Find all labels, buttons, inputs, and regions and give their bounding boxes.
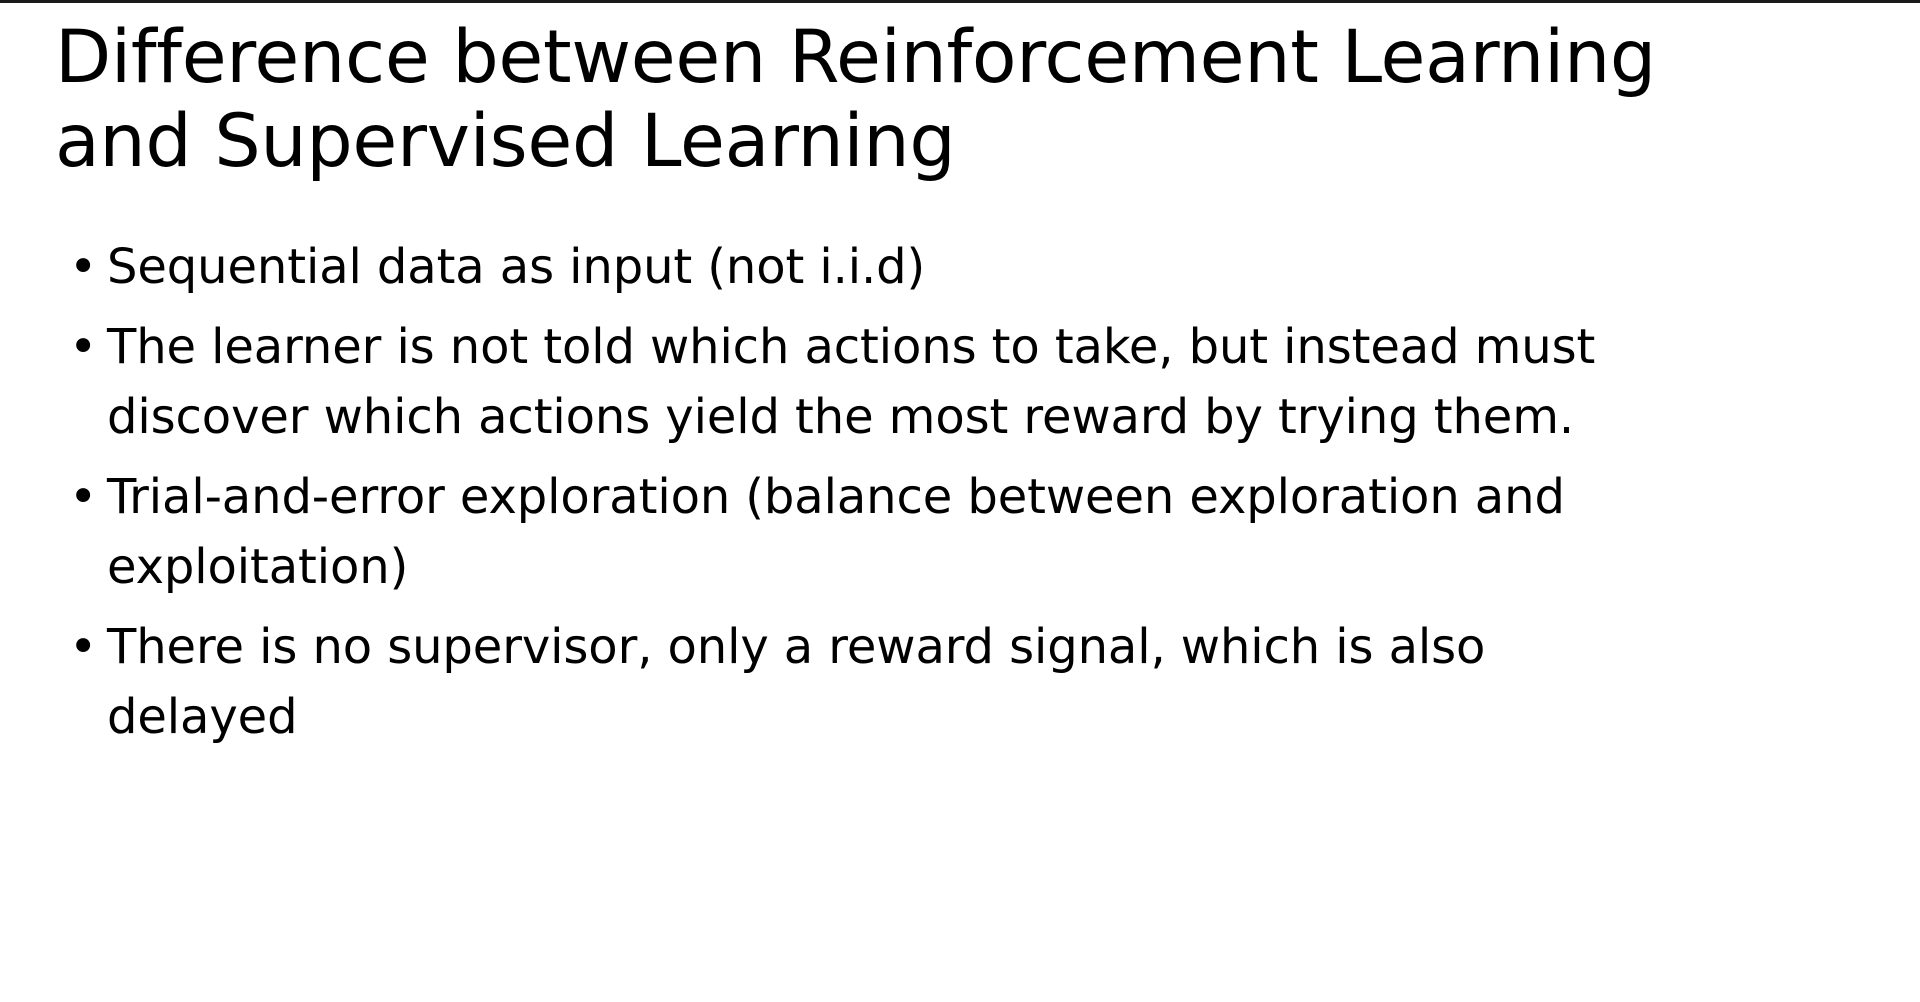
bullet-text-3: Trial-and-error exploration (balance bet… — [107, 462, 1865, 602]
bullet-text-3-line-2: exploitation) — [107, 532, 1865, 602]
bullet-text-1: Sequential data as input (not i.i.d) — [107, 232, 1865, 302]
bullet-text-2: The learner is not told which actions to… — [107, 312, 1865, 452]
bullet-text-4-line-2: delayed — [107, 682, 1865, 752]
bullet-point-icon: • — [55, 462, 107, 532]
bullet-text-4: There is no supervisor, only a reward si… — [107, 612, 1865, 752]
bullet-item-3: • Trial-and-error exploration (balance b… — [55, 462, 1865, 602]
bullet-item-4: • There is no supervisor, only a reward … — [55, 612, 1865, 752]
slide-body-bullet-list: • Sequential data as input (not i.i.d) •… — [55, 232, 1865, 762]
bullet-text-1-line-1: Sequential data as input (not i.i.d) — [107, 232, 1865, 302]
slide-title-line-2: and Supervised Learning — [55, 100, 1845, 184]
bullet-item-2: • The learner is not told which actions … — [55, 312, 1865, 452]
presentation-slide: Difference between Reinforcement Learnin… — [0, 0, 1920, 1002]
bullet-item-1: • Sequential data as input (not i.i.d) — [55, 232, 1865, 302]
bullet-point-icon: • — [55, 312, 107, 382]
bullet-text-4-line-1: There is no supervisor, only a reward si… — [107, 612, 1865, 682]
slide-top-rule — [0, 0, 1920, 3]
bullet-point-icon: • — [55, 232, 107, 302]
slide-title-line-1: Difference between Reinforcement Learnin… — [55, 16, 1845, 100]
bullet-text-2-line-1: The learner is not told which actions to… — [107, 312, 1865, 382]
bullet-text-2-line-2: discover which actions yield the most re… — [107, 382, 1865, 452]
bullet-text-3-line-1: Trial-and-error exploration (balance bet… — [107, 462, 1865, 532]
bullet-point-icon: • — [55, 612, 107, 682]
slide-title: Difference between Reinforcement Learnin… — [55, 16, 1845, 184]
